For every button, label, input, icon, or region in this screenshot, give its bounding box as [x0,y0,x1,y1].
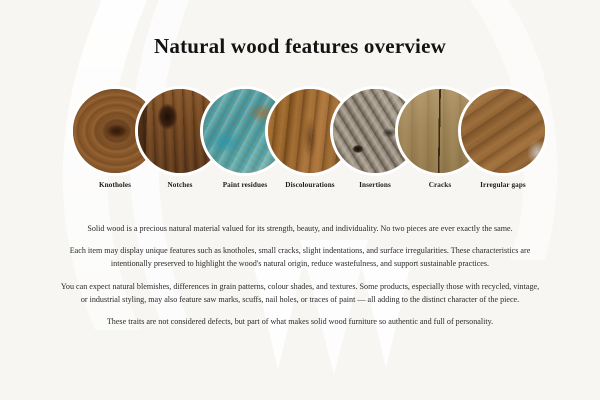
feature-label-paint-residues: Paint residues [223,181,268,189]
feature-label-knotholes: Knotholes [99,181,131,189]
feature-image-irregular-gaps [458,86,548,176]
feature-label-irregular-gaps: Irregular gaps [480,181,526,189]
feature-label-notches: Notches [167,181,192,189]
body-paragraph-4: These traits are not considered defects,… [45,315,555,328]
feature-label-insertions: Insertions [359,181,391,189]
document-page: Natural wood features overview Knotholes… [0,0,600,400]
feature-label-discolourations: Discolourations [285,181,334,189]
feature-item-irregular-gaps[interactable]: Irregular gaps [458,86,548,176]
body-paragraph-2: Each item may display unique features su… [45,244,555,270]
wood-texture-irregular-gaps [458,86,548,176]
page-title: Natural wood features overview [0,34,600,59]
feature-label-cracks: Cracks [429,181,452,189]
body-copy: Solid wood is a precious natural materia… [45,222,555,328]
feature-strip: Knotholes Notches Paint residues Discolo… [0,86,600,194]
body-paragraph-3: You can expect natural blemishes, differ… [45,280,555,306]
body-paragraph-1: Solid wood is a precious natural materia… [45,222,555,235]
